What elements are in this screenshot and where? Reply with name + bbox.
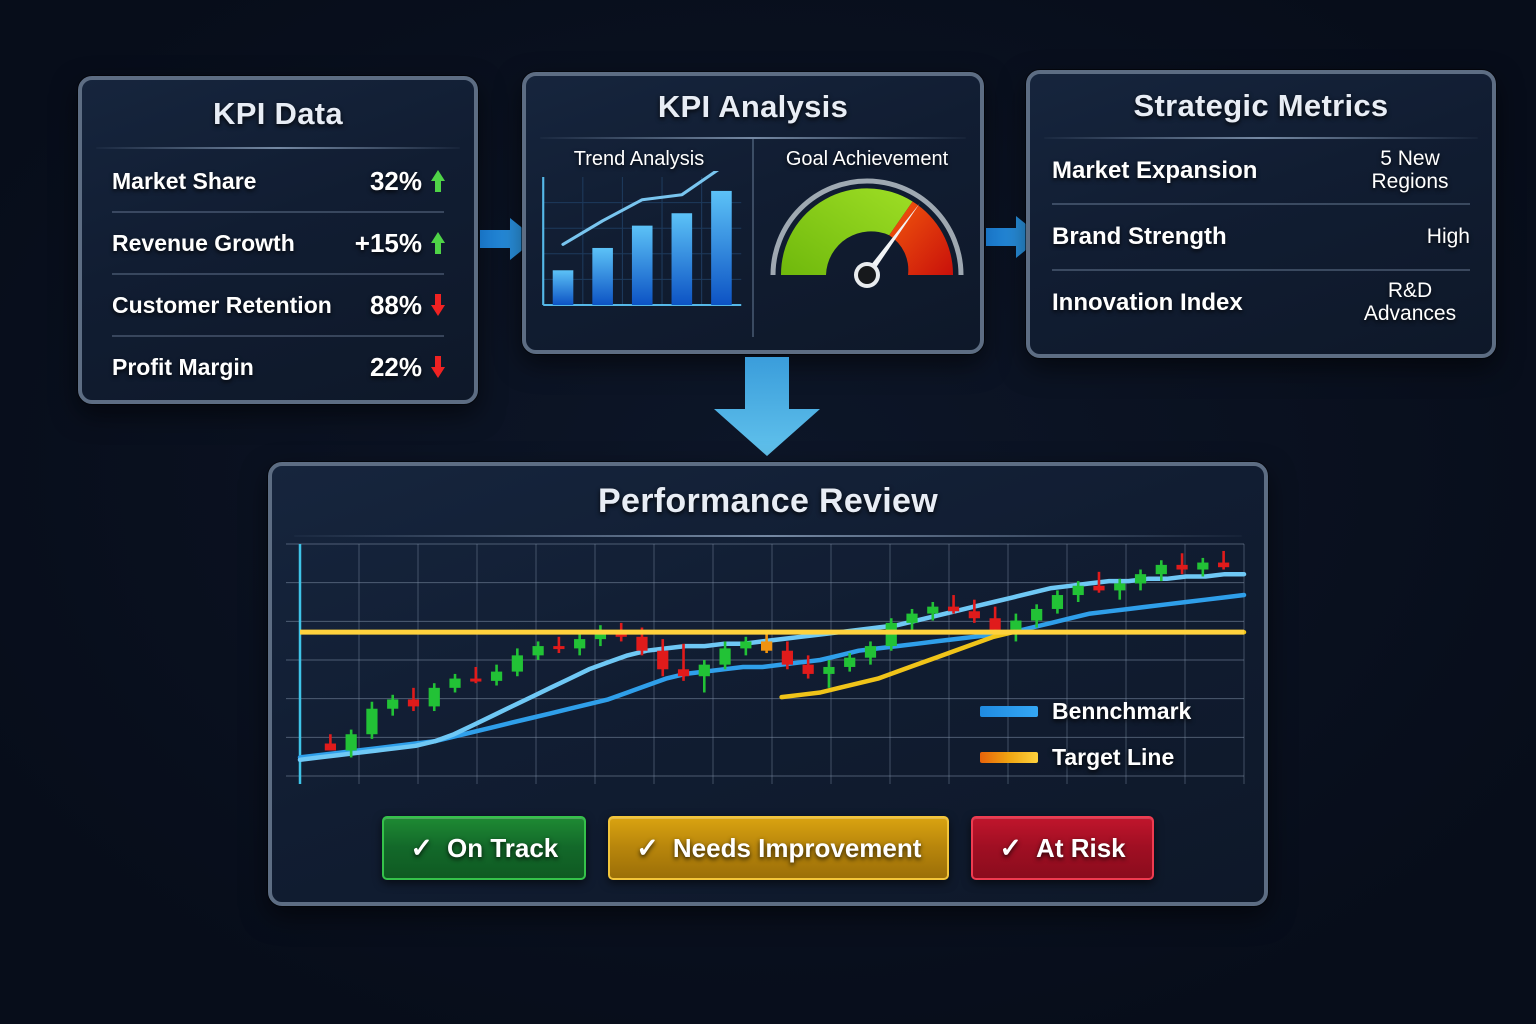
legend-item-benchmark: Bennchmark: [980, 688, 1230, 734]
dashboard-stage: KPI Data Market Share 32% Revenue Growth…: [0, 0, 1536, 1024]
legend-item-target-line: Target Line: [980, 734, 1230, 780]
performance-chart: Bennchmark Target Line: [284, 540, 1256, 788]
target-line-swatch-icon: [980, 752, 1038, 763]
trend-up-icon: [431, 232, 444, 254]
kpi-analysis-title: KPI Analysis: [526, 76, 980, 125]
benchmark-swatch-icon: [980, 706, 1038, 717]
strategic-label: Market Expansion: [1052, 157, 1257, 185]
check-icon: ✓: [410, 835, 433, 862]
performance-review-panel: Performance Review Bennchmark Target Lin…: [268, 462, 1268, 906]
strategic-metrics-rows: Market Expansion 5 New Regions Brand Str…: [1030, 139, 1492, 335]
strategic-label: Innovation Index: [1052, 289, 1243, 317]
kpi-row: Customer Retention 88%: [112, 275, 444, 337]
kpi-value: +15%: [355, 228, 422, 259]
chart-legend: Bennchmark Target Line: [980, 688, 1230, 780]
goal-achievement-gauge: [754, 171, 980, 321]
strategic-value: 5 New Regions: [1350, 148, 1470, 193]
performance-review-title: Performance Review: [272, 466, 1264, 521]
strategic-value: R&D Advances: [1350, 280, 1470, 325]
strategic-row: Market Expansion 5 New Regions: [1052, 139, 1470, 205]
legend-label: Target Line: [1052, 744, 1174, 771]
kpi-data-title: KPI Data: [82, 80, 474, 132]
status-button-label: On Track: [447, 833, 558, 864]
status-button-at-risk[interactable]: ✓ At Risk: [971, 816, 1153, 880]
kpi-data-card: KPI Data Market Share 32% Revenue Growth…: [78, 76, 478, 404]
kpi-analysis-card: KPI Analysis Trend Analysis: [522, 72, 984, 354]
status-button-needs-improvement[interactable]: ✓ Needs Improvement: [608, 816, 949, 880]
strategic-metrics-card: Strategic Metrics Market Expansion 5 New…: [1026, 70, 1496, 358]
strategic-value: High: [1427, 226, 1470, 249]
trend-up-icon: [431, 170, 444, 192]
kpi-label: Market Share: [112, 168, 256, 195]
divider: [96, 147, 460, 149]
status-button-on-track[interactable]: ✓ On Track: [382, 816, 586, 880]
check-icon: ✓: [999, 835, 1022, 862]
strategic-row: Innovation Index R&D Advances: [1052, 271, 1470, 335]
kpi-label: Customer Retention: [112, 292, 332, 319]
status-button-label: Needs Improvement: [673, 833, 922, 864]
goal-achievement-panel: Goal Achievement: [754, 139, 980, 337]
goal-achievement-title: Goal Achievement: [754, 148, 980, 171]
kpi-row: Market Share 32%: [112, 151, 444, 213]
kpi-value: 88%: [370, 290, 422, 321]
flow-arrow-down-icon: [712, 357, 822, 457]
divider: [294, 535, 1242, 537]
kpi-data-rows: Market Share 32% Revenue Growth +15% Cus…: [82, 151, 474, 397]
kpi-row: Profit Margin 22%: [112, 337, 444, 397]
strategic-metrics-title: Strategic Metrics: [1030, 74, 1492, 124]
trend-analysis-bar-chart: [526, 171, 752, 321]
trend-down-icon: [431, 294, 444, 316]
kpi-value: 22%: [370, 352, 422, 383]
check-icon: ✓: [636, 835, 659, 862]
strategic-label: Brand Strength: [1052, 223, 1227, 251]
trend-down-icon: [431, 356, 444, 378]
trend-analysis-title: Trend Analysis: [526, 148, 752, 171]
trend-analysis-panel: Trend Analysis: [526, 139, 754, 337]
status-button-label: At Risk: [1036, 833, 1126, 864]
kpi-row: Revenue Growth +15%: [112, 213, 444, 275]
kpi-value: 32%: [370, 166, 422, 197]
status-button-row: ✓ On Track ✓ Needs Improvement ✓ At Risk: [272, 816, 1264, 880]
strategic-row: Brand Strength High: [1052, 205, 1470, 271]
kpi-label: Revenue Growth: [112, 230, 295, 257]
kpi-label: Profit Margin: [112, 354, 254, 381]
legend-label: Bennchmark: [1052, 698, 1191, 725]
